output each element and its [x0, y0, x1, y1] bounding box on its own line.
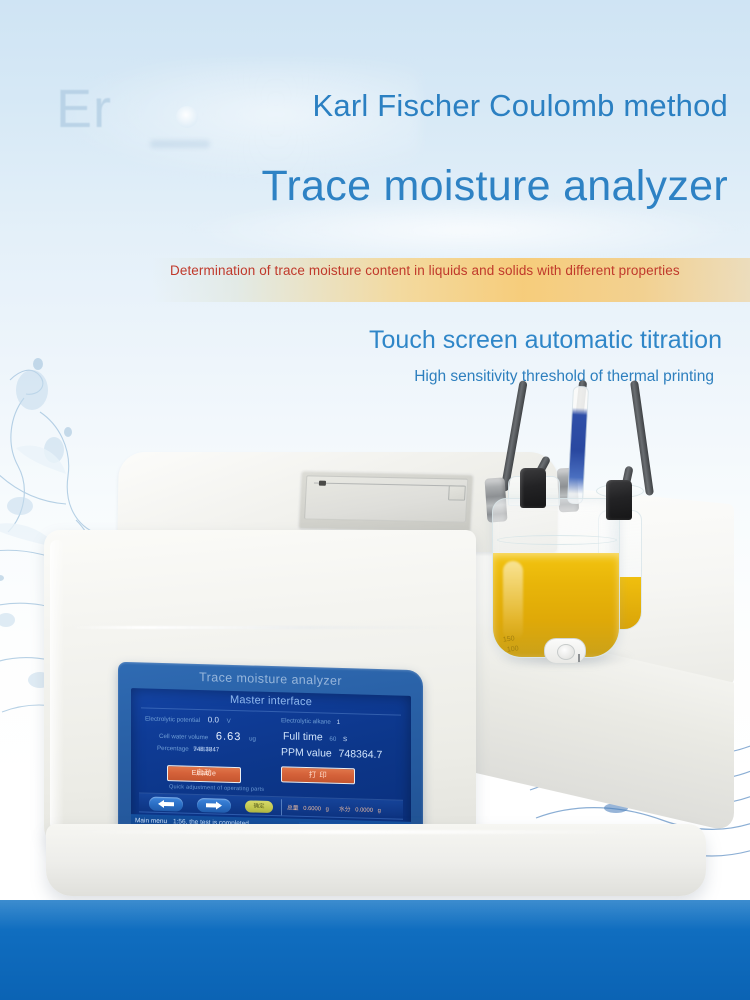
reading-total: 总量 0.6000 g — [287, 802, 329, 812]
print-button[interactable]: 打 印 — [281, 766, 355, 784]
print-button-label: 打 印 — [282, 767, 354, 783]
printer-open-button[interactable] — [448, 485, 466, 500]
drain-valve[interactable] — [544, 638, 586, 664]
reading-moisture: 水分 0.0000 g — [339, 804, 381, 814]
titration-cell-assembly: 150 100 — [470, 380, 750, 800]
electrolytic-potential-value: 0.0 — [202, 715, 225, 725]
electrolytic-potential-unit: V — [227, 718, 231, 725]
full-time-value: 60 — [324, 736, 341, 743]
full-time-unit: S — [343, 736, 347, 743]
reading-total-unit: g — [326, 807, 329, 813]
device-brand-label: Trace moisture analyzer — [118, 668, 423, 691]
ppm-value: 748364.7 — [334, 748, 383, 761]
page-title: Trace moisture analyzer — [261, 162, 728, 211]
cell-water-volume-value: 6.63 — [210, 730, 247, 743]
watermark-dot-icon — [176, 106, 198, 128]
right-arrow-icon — [206, 801, 222, 809]
drain-valve-slot-icon — [578, 654, 580, 662]
printer-lid[interactable] — [304, 475, 468, 522]
cell-water-volume-label: Cell water volume — [159, 733, 208, 741]
device-seam-line — [70, 626, 470, 629]
rubber-stopper-left — [520, 468, 546, 508]
field-cell-water-volume: Cell water volume 6.63 ug — [159, 729, 256, 744]
field-electrolytic-potential: Electrolytic potential 0.0 V — [145, 713, 231, 724]
reading-moisture-unit: g — [378, 808, 381, 814]
tagline-primary: Touch screen automatic titration — [369, 326, 722, 355]
left-arrow-icon — [158, 800, 174, 808]
poster-canvas: Er Karl Fischer Coulomb method Trace moi… — [0, 0, 750, 1000]
reading-total-label: 总量 — [287, 805, 299, 811]
reading-moisture-label: 水分 — [339, 807, 351, 813]
field-electrolytic-alkane: Electrolytic alkane 1 — [281, 717, 340, 726]
reading-moisture-value: 0.0000 — [352, 807, 376, 814]
confirm-button[interactable]: 确定 — [245, 800, 273, 813]
brand-watermark: Er — [56, 78, 112, 140]
thermal-printer-cover[interactable] — [299, 470, 474, 532]
drain-valve-knob[interactable] — [557, 644, 575, 660]
feature-banner-text: Determination of trace moisture content … — [170, 262, 745, 280]
reading-total-value: 0.6000 — [300, 806, 324, 813]
full-time-label: Full time — [283, 730, 323, 743]
device-front-panel: Trace moisture analyzer Master interface… — [44, 530, 476, 852]
rubber-stopper-right — [606, 480, 632, 520]
field-percentage: Percentage 748.3847 9.8847 — [157, 745, 219, 754]
cell-water-volume-unit: ug — [249, 735, 256, 742]
percentage-label: Percentage — [157, 745, 189, 753]
lcd-screen[interactable]: Master interface Electrolytic potential … — [131, 688, 411, 840]
percentage-ghost-value: 9.8847 — [190, 746, 212, 754]
ppm-label: PPM value — [281, 746, 332, 759]
enable-button-cjk-label: 启动 — [167, 765, 241, 781]
field-full-time: Full time 60 S — [283, 730, 347, 744]
desiccant-tube — [567, 386, 589, 505]
cable-right — [630, 380, 654, 496]
quick-adjust-hint: Quick adjustment of operating parts — [169, 784, 264, 793]
heading-method: Karl Fischer Coulomb method — [313, 88, 728, 124]
electrolytic-potential-label: Electrolytic potential — [145, 715, 200, 724]
toolbar-divider — [281, 799, 282, 815]
printer-paper-slot — [314, 482, 464, 486]
titration-flask: 150 100 — [492, 498, 620, 658]
field-ppm: PPM value 748364.7 — [281, 746, 382, 761]
electrolytic-alkane-label: Electrolytic alkane — [281, 717, 331, 725]
printer-led-icon — [319, 481, 326, 486]
left-arrow-button[interactable] — [149, 797, 183, 812]
flask-ring — [497, 535, 617, 545]
watermark-smear — [150, 140, 210, 148]
device-base — [46, 824, 706, 896]
bottom-band-gloss — [0, 900, 750, 930]
device-base-highlight — [66, 830, 646, 834]
percentage-value-wrap: 748.3847 9.8847 — [190, 746, 219, 754]
enable-button-cjk-overlay: 启动 — [167, 765, 241, 783]
right-arrow-button[interactable] — [197, 798, 231, 813]
lcd-bezel: Trace moisture analyzer Master interface… — [118, 662, 423, 851]
electrolytic-alkane-value: 1 — [333, 719, 340, 726]
